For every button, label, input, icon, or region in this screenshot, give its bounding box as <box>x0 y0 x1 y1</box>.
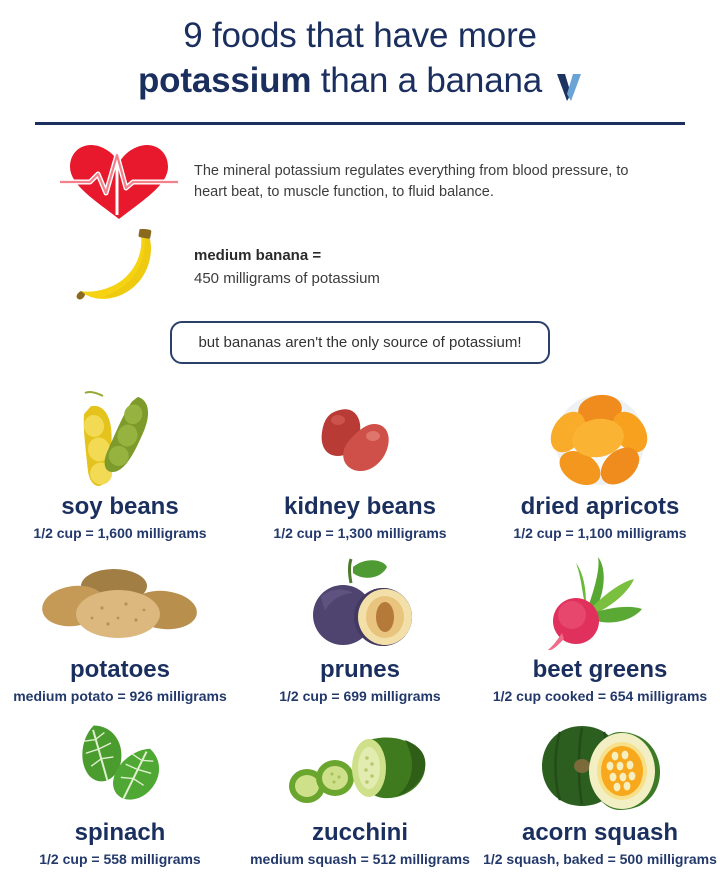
food-name: potatoes <box>70 657 170 683</box>
banana-icon <box>44 229 194 307</box>
food-cell[interactable]: acorn squash 1/2 squash, baked = 500 mil… <box>480 704 720 867</box>
banana-text: medium banana = 450 milligrams of potass… <box>194 245 380 291</box>
food-serving: 1/2 cup = 1,600 milligrams <box>33 525 206 541</box>
food-cell[interactable]: prunes 1/2 cup = 699 milligrams <box>240 541 480 704</box>
food-name: spinach <box>75 820 166 846</box>
food-serving: 1/2 cup = 699 milligrams <box>279 688 440 704</box>
food-name: prunes <box>320 657 400 683</box>
foods-grid: soy beans 1/2 cup = 1,600 milligrams kid… <box>0 378 720 867</box>
food-cell[interactable]: beet greens 1/2 cup cooked = 654 milligr… <box>480 541 720 704</box>
header-divider <box>35 122 685 125</box>
potatoes-icon <box>40 551 200 655</box>
beet-greens-icon <box>530 551 670 655</box>
food-serving: 1/2 cup = 1,100 milligrams <box>513 525 686 541</box>
food-cell[interactable]: potatoes medium potato = 926 milligrams <box>0 541 240 704</box>
acorn-squash-icon <box>530 714 670 818</box>
banana-row: medium banana = 450 milligrams of potass… <box>0 229 720 307</box>
food-serving: 1/2 squash, baked = 500 milligrams <box>483 851 717 867</box>
kidney-beans-icon <box>300 388 420 492</box>
food-cell[interactable]: soy beans 1/2 cup = 1,600 milligrams <box>0 378 240 541</box>
food-serving: medium potato = 926 milligrams <box>13 688 227 704</box>
food-cell[interactable]: zucchini medium squash = 512 milligrams <box>240 704 480 867</box>
spinach-icon <box>55 714 185 818</box>
intro-row: The mineral potassium regulates everythi… <box>0 141 720 223</box>
zucchini-icon <box>285 714 435 818</box>
v-logo-icon <box>556 69 582 99</box>
page-title-rest: than a banana <box>321 61 542 100</box>
food-cell[interactable]: dried apricots 1/2 cup = 1,100 milligram… <box>480 378 720 541</box>
page-title-line-2: potassium than a banana <box>0 59 720 104</box>
food-cell[interactable]: spinach 1/2 cup = 558 milligrams <box>0 704 240 867</box>
page-title-keyword: potassium <box>138 61 311 100</box>
banana-subtitle: 450 milligrams of potassium <box>194 270 380 287</box>
food-serving: 1/2 cup = 558 milligrams <box>39 851 200 867</box>
food-name: soy beans <box>61 494 178 520</box>
callout-wrapper: but bananas aren't the only source of po… <box>0 321 720 364</box>
food-name: zucchini <box>312 820 408 846</box>
page-title-line-1: 9 foods that have more <box>0 14 720 59</box>
food-serving: 1/2 cup cooked = 654 milligrams <box>493 688 707 704</box>
prunes-icon <box>295 551 425 655</box>
food-name: kidney beans <box>284 494 436 520</box>
food-cell[interactable]: kidney beans 1/2 cup = 1,300 milligrams <box>240 378 480 541</box>
food-name: beet greens <box>533 657 668 683</box>
food-serving: 1/2 cup = 1,300 milligrams <box>273 525 446 541</box>
food-serving: medium squash = 512 milligrams <box>250 851 470 867</box>
callout-box: but bananas aren't the only source of po… <box>170 321 549 364</box>
food-name: acorn squash <box>522 820 678 846</box>
dried-apricots-icon <box>542 388 658 492</box>
page-header: 9 foods that have more potassium than a … <box>0 0 720 125</box>
intro-text: The mineral potassium regulates everythi… <box>194 161 654 203</box>
soy-beans-icon <box>55 388 185 492</box>
food-name: dried apricots <box>521 494 680 520</box>
heart-ecg-icon <box>44 141 194 223</box>
banana-title: medium banana = <box>194 245 380 267</box>
